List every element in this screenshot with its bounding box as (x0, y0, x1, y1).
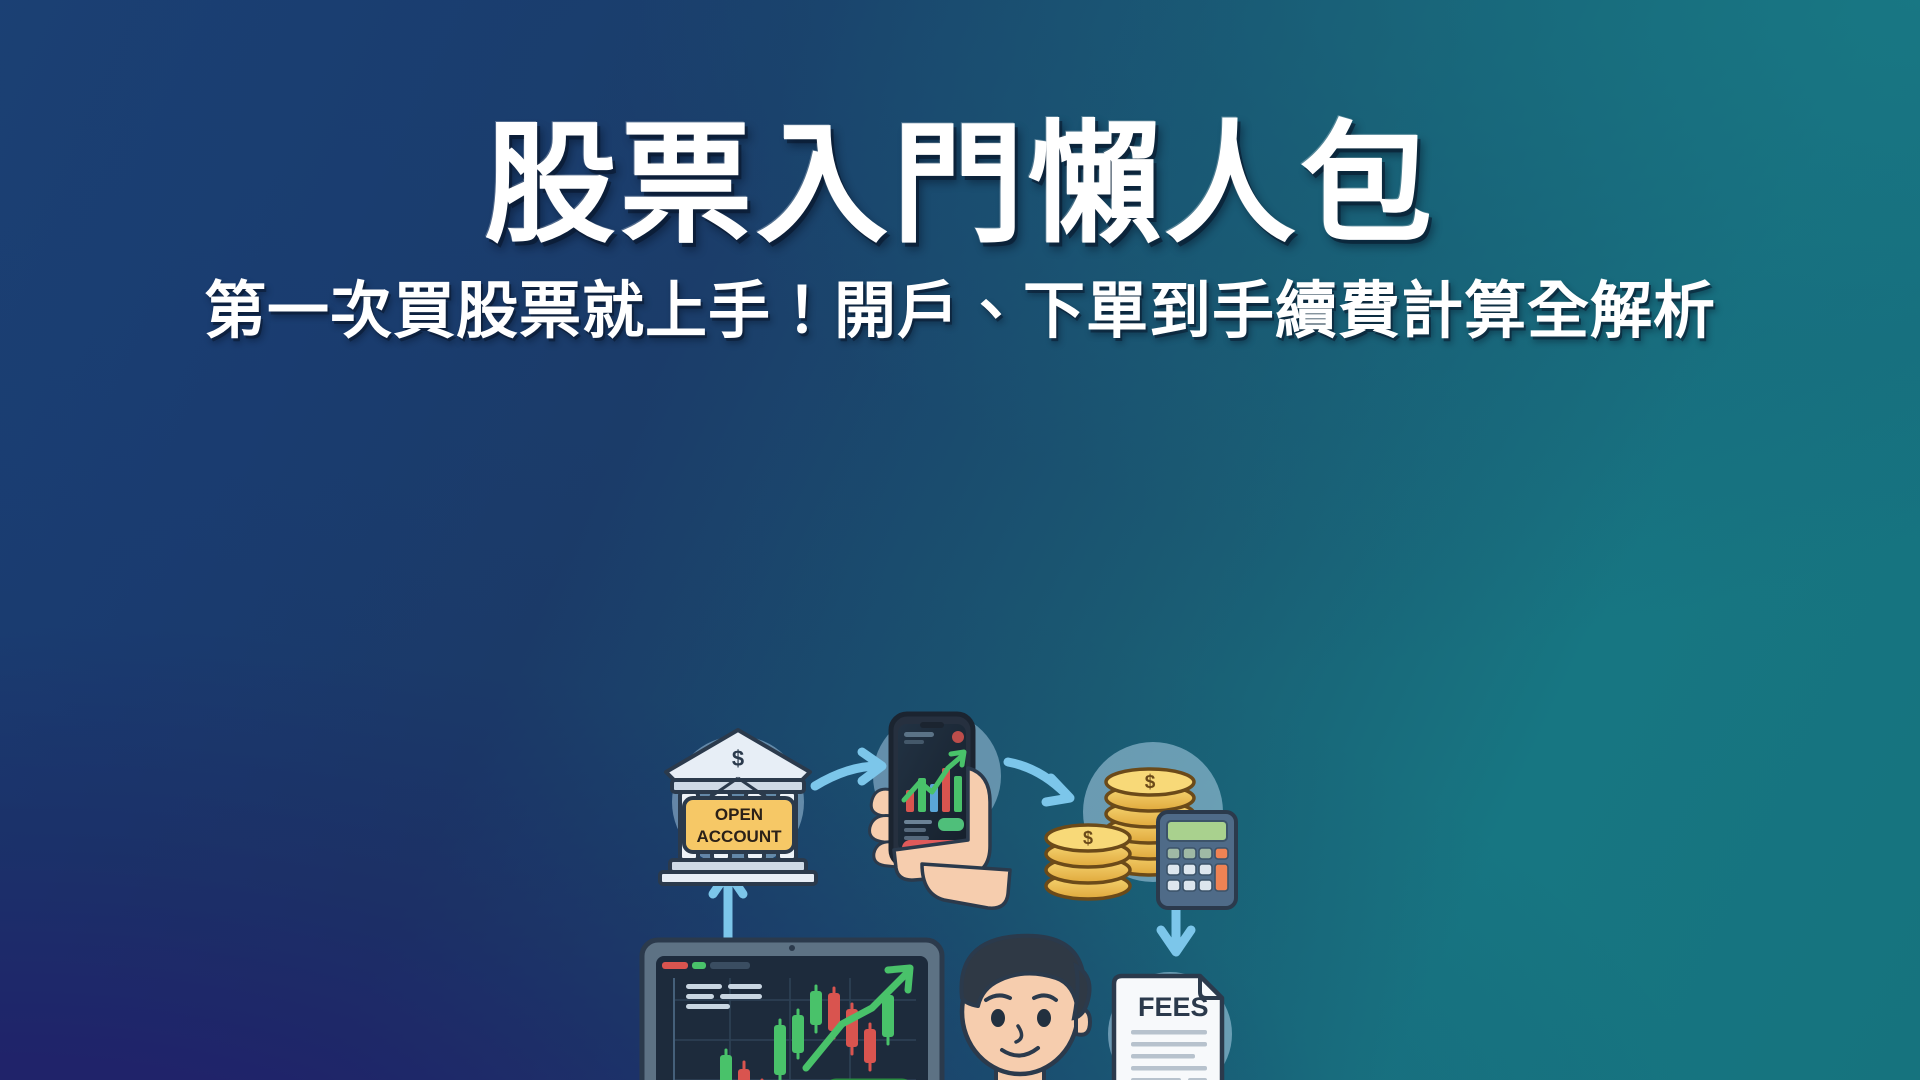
flow-arrow-phone-to-coins (1008, 762, 1070, 802)
calculator-icon (1158, 812, 1236, 908)
stock-trading-flow-illustration: $ OPEN ACCOUNT (610, 694, 1310, 1080)
stock-guide-banner: 股票入門懶人包 第一次買股票就上手！開戶、下單到手續費計算全解析 (0, 0, 1920, 1080)
fees-document-title: FEES (1138, 992, 1209, 1022)
page-subtitle: 第一次買股票就上手！開戶、下單到手續費計算全解析 (0, 279, 1920, 346)
open-account-sign-line1: OPEN (715, 805, 763, 824)
svg-text:$: $ (1083, 828, 1093, 848)
bank-building-icon: $ OPEN ACCOUNT (660, 730, 816, 884)
open-account-sign: OPEN ACCOUNT (684, 798, 794, 852)
page-title: 股票入門懶人包 (0, 118, 1920, 253)
laptop-candlestick-chart-icon: BUY (614, 940, 972, 1080)
open-account-sign-line2: ACCOUNT (697, 827, 783, 846)
svg-text:$: $ (1145, 772, 1156, 793)
svg-text:$: $ (732, 746, 744, 771)
fees-document-icon: FEES (1114, 976, 1222, 1080)
flow-arrow-bank-to-phone (815, 752, 882, 786)
headline-block: 股票入門懶人包 第一次買股票就上手！開戶、下單到手續費計算全解析 (0, 118, 1920, 346)
